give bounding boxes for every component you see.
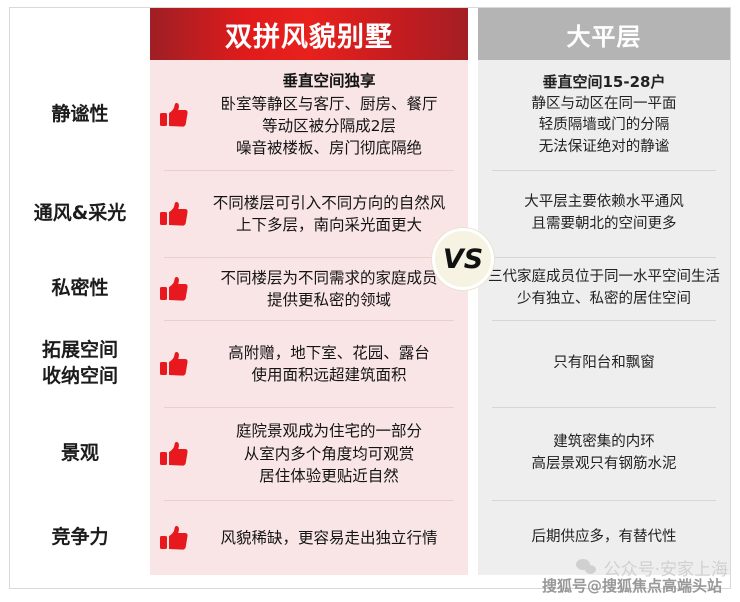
comparison-table: 双拼风貌别墅 大平层 静谧性垂直空间独享卧室等静区与客厅、厨房、餐厅等动区被分隔… [10,8,730,588]
right-option-cell: 垂直空间15-28户静区与动区在同一平面轻质隔墙或门的分隔无法保证绝对的静谧 [478,60,730,170]
left-option-line: 庭院景观成为住宅的一部分 [198,420,460,442]
column-gap [468,60,478,170]
column-gap [468,321,478,407]
left-option-cell: 庭院景观成为住宅的一部分从室内多个角度均可观赏居住体验更贴近自然 [150,408,468,500]
thumbs-up-icon [154,350,194,378]
table-row: 拓展空间收纳空间高附赠，地下室、花园、露台使用面积远超建筑面积只有阳台和飘窗 [10,321,730,407]
thumbs-up-icon [154,200,194,228]
left-option-line: 上下多层，南向采光面更大 [198,214,460,236]
right-option-line: 无法保证绝对的静谧 [539,137,670,159]
left-option-text: 不同楼层可引入不同方向的自然风上下多层，南向采光面更大 [198,192,460,237]
thumbs-up-icon [154,101,194,129]
header-left-title: 双拼风貌别墅 [150,8,468,60]
left-option-text: 不同楼层为不同需求的家庭成员提供更私密的领域 [198,267,460,312]
thumbs-up-icon [154,524,194,552]
right-option-line: 建筑密集的内环 [553,432,655,454]
right-option-cell: 三代家庭成员位于同一水平空间生活少有独立、私密的居住空间 [478,258,730,320]
left-option-line: 居住体验更贴近自然 [198,465,460,487]
row-label-line: 通风&采光 [34,201,127,227]
left-option-cell: 不同楼层为不同需求的家庭成员提供更私密的领域 [150,258,468,320]
row-label: 竞争力 [10,501,150,575]
left-option-text: 庭院景观成为住宅的一部分从室内多个角度均可观赏居住体验更贴近自然 [198,420,460,487]
header-label-spacer [10,8,150,60]
right-option-line: 且需要朝北的空间更多 [532,214,677,236]
row-label-line: 竞争力 [51,525,108,551]
vs-badge: VS [432,228,494,290]
row-label-line: 拓展空间 [42,338,118,364]
right-option-cell: 只有阳台和飘窗 [478,321,730,407]
table-row: 通风&采光不同楼层可引入不同方向的自然风上下多层，南向采光面更大大平层主要依赖水… [10,171,730,257]
left-option-line: 从室内多个角度均可观赏 [198,443,460,465]
right-option-line: 大平层主要依赖水平通风 [524,192,684,214]
right-option-line: 三代家庭成员位于同一水平空间生活 [488,267,720,289]
left-option-text: 垂直空间独享卧室等静区与客厅、厨房、餐厅等动区被分隔成2层噪音被楼板、房门彻底隔… [198,70,460,160]
right-option-cell: 大平层主要依赖水平通风且需要朝北的空间更多 [478,171,730,257]
column-gap [468,501,478,575]
left-option-line: 使用面积远超建筑面积 [198,364,460,386]
left-option-line: 高附赠，地下室、花园、露台 [198,342,460,364]
left-option-cell: 高附赠，地下室、花园、露台使用面积远超建筑面积 [150,321,468,407]
right-option-line: 只有阳台和飘窗 [553,353,655,375]
column-gap [468,408,478,500]
left-option-line: 等动区被分隔成2层 [198,115,460,137]
left-option-cell: 不同楼层可引入不同方向的自然风上下多层，南向采光面更大 [150,171,468,257]
table-row: 私密性不同楼层为不同需求的家庭成员提供更私密的领域三代家庭成员位于同一水平空间生… [10,258,730,320]
row-label: 静谧性 [10,60,150,170]
thumbs-up-icon [154,275,194,303]
header-right-title: 大平层 [478,8,730,60]
left-option-text: 风貌稀缺，更容易走出独立行情 [198,527,460,549]
right-option-line: 后期供应多，有替代性 [532,527,677,549]
table-row: 景观庭院景观成为住宅的一部分从室内多个角度均可观赏居住体验更贴近自然建筑密集的内… [10,408,730,500]
right-option-line: 静区与动区在同一平面 [532,94,677,116]
right-option-line: 少有独立、私密的居住空间 [517,289,691,311]
left-option-line: 不同楼层可引入不同方向的自然风 [198,192,460,214]
row-label: 拓展空间收纳空间 [10,321,150,407]
left-option-text: 高附赠，地下室、花园、露台使用面积远超建筑面积 [198,342,460,387]
row-label-line: 私密性 [51,276,108,302]
row-label: 私密性 [10,258,150,320]
row-label: 通风&采光 [10,171,150,257]
row-label-line: 收纳空间 [42,364,118,390]
right-option-line: 高层景观只有钢筋水泥 [532,454,677,476]
left-option-line: 噪音被楼板、房门彻底隔绝 [198,137,460,159]
header-column-gap [468,8,478,60]
comparison-infographic: 双拼风貌别墅 大平层 静谧性垂直空间独享卧室等静区与客厅、厨房、餐厅等动区被分隔… [0,0,740,602]
left-option-line: 提供更私密的领域 [198,289,460,311]
right-option-line: 轻质隔墙或门的分隔 [539,115,670,137]
row-label-line: 静谧性 [51,102,108,128]
table-header-row: 双拼风貌别墅 大平层 [10,8,730,60]
table-row: 静谧性垂直空间独享卧室等静区与客厅、厨房、餐厅等动区被分隔成2层噪音被楼板、房门… [10,60,730,170]
left-option-cell: 垂直空间独享卧室等静区与客厅、厨房、餐厅等动区被分隔成2层噪音被楼板、房门彻底隔… [150,60,468,170]
left-option-line: 垂直空间独享 [198,70,460,92]
wechat-icon [576,559,598,577]
left-option-line: 风貌稀缺，更容易走出独立行情 [198,527,460,549]
left-option-cell: 风貌稀缺，更容易走出独立行情 [150,501,468,575]
row-label-line: 景观 [61,441,99,467]
thumbs-up-icon [154,440,194,468]
sohu-watermark-text: 搜狐号@搜狐焦点高端头站 [542,575,722,596]
left-option-line: 不同楼层为不同需求的家庭成员 [198,267,460,289]
right-option-line: 垂直空间15-28户 [543,71,666,94]
left-option-line: 卧室等静区与客厅、厨房、餐厅 [198,93,460,115]
table-body: 静谧性垂直空间独享卧室等静区与客厅、厨房、餐厅等动区被分隔成2层噪音被楼板、房门… [10,60,730,575]
right-option-cell: 建筑密集的内环高层景观只有钢筋水泥 [478,408,730,500]
row-label: 景观 [10,408,150,500]
